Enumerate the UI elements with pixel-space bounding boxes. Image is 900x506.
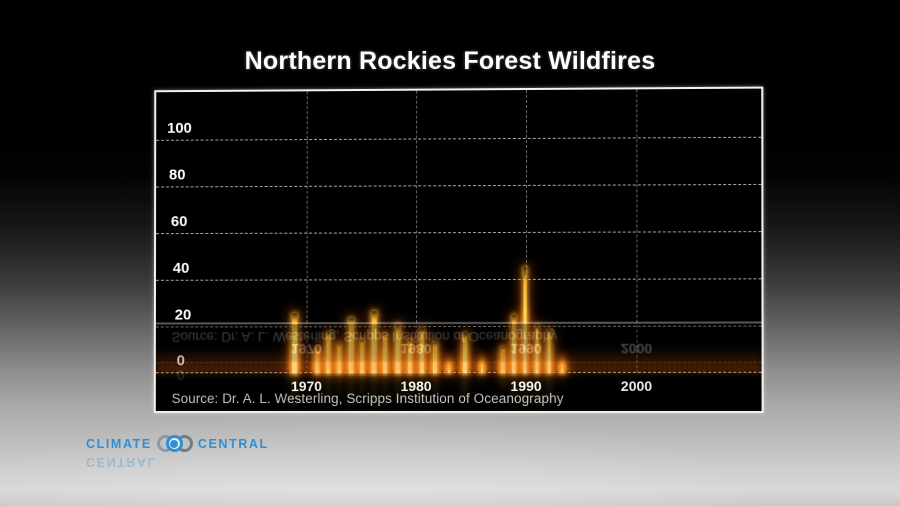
- fire-bar-core: [463, 363, 467, 403]
- fire-bar-core: [481, 363, 483, 373]
- logo-word-climate: CLIMATE: [86, 437, 152, 451]
- reflection-x-tick-2000: 2000: [621, 341, 652, 357]
- page-title: Northern Rockies Forest Wildfires: [0, 47, 900, 76]
- fire-bar-reflection: [552, 363, 572, 412]
- fire-bar-core: [292, 363, 297, 414]
- chart-reflection: 1970 1980 1990 2000 Source: Dr. A. L. We…: [154, 321, 764, 414]
- reflection-source: Source: Dr. A. L. Westerling, Scripps In…: [172, 329, 557, 345]
- logo-reflection: CENTRAL: [86, 453, 157, 471]
- fire-bar-core: [448, 363, 450, 371]
- logo-word-central: CENTRAL: [198, 437, 269, 451]
- climate-central-mark-icon: [157, 435, 193, 452]
- fire-bar-core: [561, 363, 563, 372]
- screen-canvas: Northern Rockies Forest Wildfires 100 80: [0, 0, 900, 506]
- logo-reflection-text: CENTRAL: [86, 455, 157, 469]
- fire-bar-reflection: [283, 363, 306, 414]
- reflection-y-tick-0: 0: [177, 366, 185, 383]
- climate-central-logo[interactable]: CLIMATE CENTRAL: [86, 435, 269, 452]
- reflection-frame: 1970 1980 1990 2000 Source: Dr. A. L. We…: [154, 321, 764, 414]
